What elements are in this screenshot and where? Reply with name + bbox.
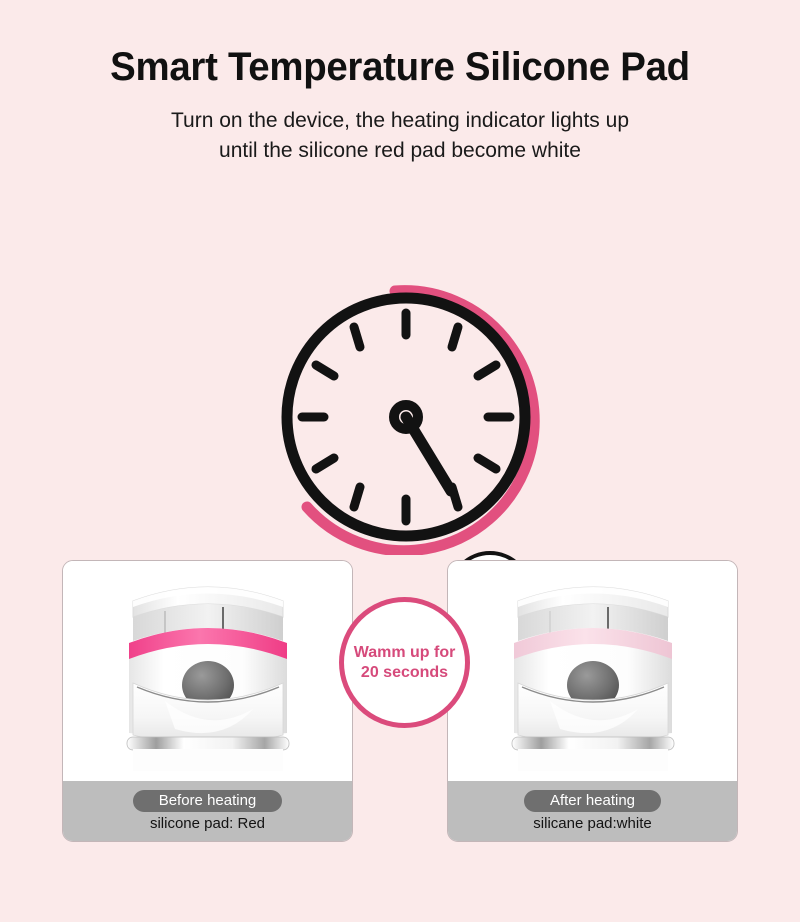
silicone-pad-device-red-icon bbox=[103, 567, 313, 781]
card-before-photo bbox=[63, 561, 352, 783]
header: Smart Temperature Silicone Pad Turn on t… bbox=[0, 44, 800, 167]
card-before-footer: Before heating silicone pad: Red bbox=[63, 781, 352, 841]
subtitle-line-1: Turn on the device, the heating indicato… bbox=[0, 106, 800, 136]
clock-icon bbox=[265, 255, 565, 555]
page-subtitle: Turn on the device, the heating indicato… bbox=[0, 106, 800, 167]
warm-up-line-1: Wamm up for bbox=[354, 643, 456, 663]
card-after-photo bbox=[448, 561, 737, 783]
clock-illustration: 20 sec Fast Heating bbox=[0, 255, 800, 555]
pad-caption-after: silicane pad:white bbox=[533, 815, 651, 832]
silicone-pad-device-white-icon bbox=[488, 567, 698, 781]
warm-up-line-2: 20 seconds bbox=[361, 663, 448, 683]
product-infographic-page: Smart Temperature Silicone Pad Turn on t… bbox=[0, 0, 800, 922]
page-title: Smart Temperature Silicone Pad bbox=[16, 44, 784, 90]
warm-up-badge: Wamm up for 20 seconds bbox=[339, 597, 470, 728]
status-badge-before: Before heating bbox=[133, 790, 283, 812]
card-before-heating: Before heating silicone pad: Red bbox=[62, 560, 353, 842]
pad-caption-before: silicone pad: Red bbox=[150, 815, 265, 832]
status-badge-after: After heating bbox=[524, 790, 661, 812]
card-after-footer: After heating silicane pad:white bbox=[448, 781, 737, 841]
subtitle-line-2: until the silicone red pad become white bbox=[0, 136, 800, 166]
card-after-heating: After heating silicane pad:white bbox=[447, 560, 738, 842]
